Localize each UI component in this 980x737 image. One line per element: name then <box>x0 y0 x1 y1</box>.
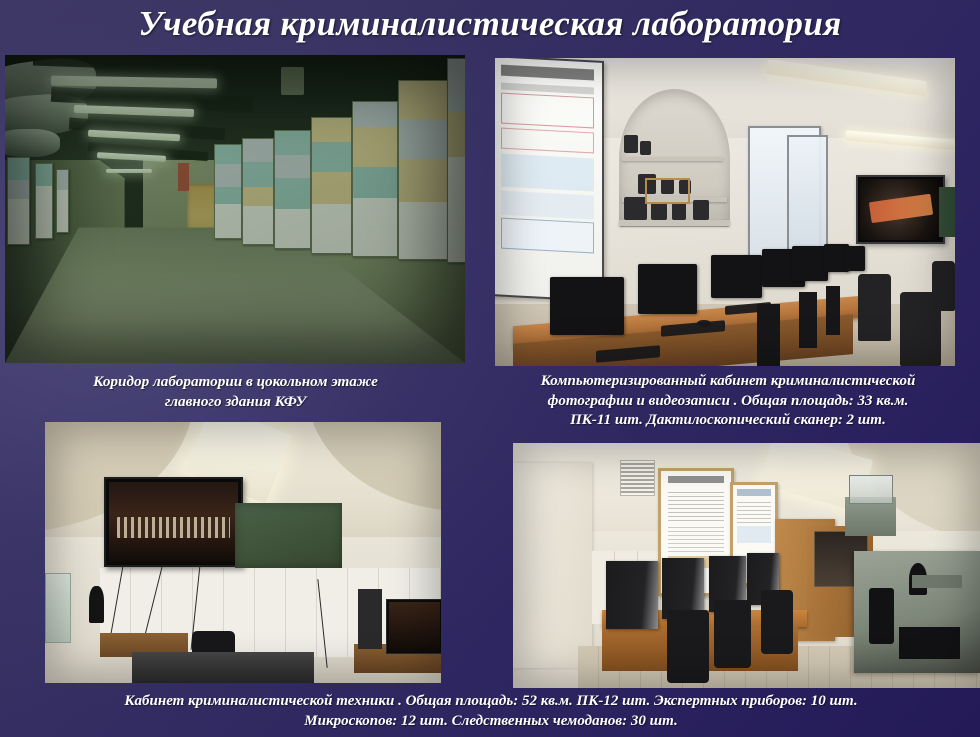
monitor <box>711 255 762 298</box>
microscope-body <box>869 588 894 644</box>
desk-lamp-icon <box>89 586 105 623</box>
caption-line: Коридор лаборатории в цокольном этаже <box>8 372 463 392</box>
monitor <box>845 246 866 271</box>
camera-icon <box>640 141 652 155</box>
pc-tower <box>606 561 657 630</box>
caption-line: фотографии и видеозаписи . Общая площадь… <box>492 392 964 412</box>
tv-image <box>860 179 941 240</box>
green-chalkboard <box>939 187 955 236</box>
wall-tv-screen <box>856 175 945 244</box>
caption-line: Кабинет криминалистической техники . Общ… <box>10 692 972 712</box>
photolab-scene <box>495 58 955 366</box>
wall-poster-large <box>495 58 605 302</box>
camera-icon <box>693 200 709 220</box>
tv-image <box>109 482 238 562</box>
camera-icon <box>624 135 638 153</box>
monitor <box>792 246 829 281</box>
page-title: Учебная криминалистическая лаборатория <box>0 4 980 44</box>
tv-image-detail <box>117 517 230 538</box>
monitor-image <box>389 602 440 650</box>
info-stand-glass <box>787 135 828 262</box>
caption-corridor: Коридор лаборатории в цокольном этаже гл… <box>8 372 463 411</box>
camera-icon <box>651 203 667 220</box>
display-shelf <box>619 220 729 226</box>
pc-tower <box>799 292 817 347</box>
chair <box>858 274 890 342</box>
comparison-microscope <box>854 551 980 674</box>
tv-overlay-text <box>869 194 933 223</box>
display-shelf <box>622 157 723 162</box>
monitor <box>550 277 624 336</box>
caption-line: Микроскопов: 12 шт. Следственных чемодан… <box>10 712 972 732</box>
chair <box>667 610 709 684</box>
photo-tech-equipment <box>513 443 980 688</box>
caption-line: главного здания КФУ <box>8 392 463 412</box>
chair <box>932 261 955 310</box>
microscope-base <box>899 627 960 659</box>
photo-tech-room <box>45 422 441 683</box>
glass-display-box <box>849 475 893 504</box>
monitor <box>386 599 441 653</box>
microscope-icon <box>358 589 382 649</box>
chair <box>761 590 794 654</box>
presentation-slide: Учебная криминалистическая лаборатория <box>0 0 980 737</box>
green-chalkboard <box>235 503 342 568</box>
caption-line: ПК-11 шт. Дактилоскопический сканер: 2 ш… <box>492 411 964 431</box>
equipment-scene <box>513 443 980 688</box>
corridor-scene <box>5 55 465 363</box>
doorway-panel <box>513 463 592 669</box>
wall-tv-screen <box>104 477 243 567</box>
monitor <box>638 264 698 313</box>
photo-corridor <box>5 55 465 363</box>
ventilation-grille-icon <box>620 460 655 496</box>
glass-cabinet <box>45 573 71 643</box>
work-table <box>132 652 314 683</box>
caption-line: Компьютеризированный кабинет криминалист… <box>492 372 964 392</box>
techroom-scene <box>45 422 441 683</box>
caption-tech-room: Кабинет криминалистической техники . Общ… <box>10 692 972 731</box>
pc-tower <box>826 286 840 335</box>
photo-photo-lab <box>495 58 955 366</box>
chair <box>714 600 751 669</box>
camera-icon <box>672 203 686 220</box>
pc-tower <box>757 304 780 366</box>
corridor-vignette <box>5 55 465 363</box>
picture-frame <box>645 178 690 204</box>
caption-photo-lab: Компьютеризированный кабинет криминалист… <box>492 372 964 431</box>
microscope-arm <box>912 575 962 587</box>
camera-icon <box>624 197 647 220</box>
